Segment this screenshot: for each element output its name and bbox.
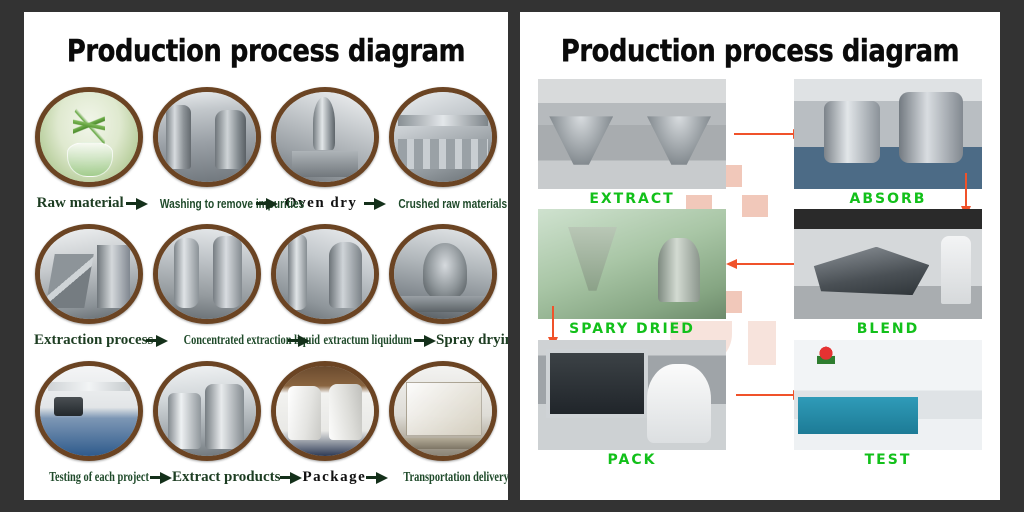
circle-package (271, 361, 379, 461)
washing-tanks-photo-icon (158, 92, 256, 182)
left-panel: Production process diagram (24, 12, 508, 500)
arrow-right-icon (126, 197, 148, 211)
caption-washing-to-remove-impurities: Washing to remove impurities (160, 197, 244, 210)
process-row-1-images (30, 83, 502, 187)
right-photo-grid: EXTRACT ABSORB SPARY DRIED BLEND (520, 69, 1000, 468)
quality-test-laboratory-photo-icon (794, 340, 982, 450)
circle-oven-dry (271, 87, 379, 187)
circle-transportation (389, 361, 497, 461)
circle-extraction-process (35, 224, 143, 324)
evaporator-photo-icon (276, 229, 374, 319)
process-row-3-images (30, 357, 502, 461)
arrow-right-icon (364, 197, 386, 211)
spray-dryer-photo-icon (394, 229, 492, 319)
arrow-down-icon (965, 173, 967, 207)
photo-cell-extract: EXTRACT (538, 79, 726, 207)
arrow-right-icon (366, 471, 388, 485)
circle-raw-material (35, 87, 143, 187)
caption-spray-drying: Spray drying (436, 333, 508, 348)
concentration-tanks-photo-icon (158, 229, 256, 319)
right-panel: Production process diagram EXTRACT ABSOR… (520, 12, 1000, 500)
left-circle-grid: Raw material Washing to remove impuritie… (24, 69, 508, 491)
panel-divider (508, 0, 520, 512)
photo-caption-absorb: ABSORB (794, 189, 982, 207)
caption-package: Package (302, 470, 366, 485)
caption-raw-material: Raw material (34, 196, 126, 211)
caption-extract-products: Extract products (172, 470, 280, 485)
arrow-right-icon (736, 394, 794, 396)
circle-extractum-liquidum (271, 224, 379, 324)
palletized-shipment-photo-icon (394, 366, 492, 456)
packing-operator-photo-icon (538, 340, 726, 450)
arrow-right-icon (414, 334, 436, 348)
caption-extraction-process: Extraction process (34, 333, 146, 348)
crushing-racks-photo-icon (394, 92, 492, 182)
right-panel-title: Production process diagram (554, 12, 967, 69)
circle-concentrated-liquid (153, 224, 261, 324)
process-row-3-captions: Testing of each project Extract products… (30, 461, 502, 491)
photo-row-spary-dried-blend: SPARY DRIED BLEND (538, 209, 982, 337)
caption-transportation-delivery: Transportation delivery (404, 471, 491, 485)
circle-testing (35, 361, 143, 461)
circle-washing (153, 87, 261, 187)
arrow-right-icon (256, 197, 278, 211)
photo-row-extract-absorb: EXTRACT ABSORB (538, 79, 982, 207)
photo-caption-spary-dried: SPARY DRIED (538, 319, 726, 337)
product-cans-photo-icon (158, 366, 256, 456)
caption-concentrated-extraction-liquid: Concentrated extraction liquid (184, 334, 273, 348)
process-row-1: Raw material Washing to remove impuritie… (30, 83, 502, 217)
extraction-vessels-photo-icon (538, 79, 726, 189)
spray-drying-room-photo-icon (538, 209, 726, 319)
process-row-3: Testing of each project Extract products… (30, 357, 502, 491)
arrow-right-icon (288, 334, 310, 348)
screenshot-root: Production process diagram (0, 0, 1024, 512)
caption-extractum-liquidum: extractum liquidum (324, 334, 401, 348)
photo-caption-pack: PACK (538, 450, 726, 468)
photo-cell-absorb: ABSORB (794, 79, 982, 207)
photo-cell-blend: BLEND (794, 209, 982, 337)
process-row-2-images (30, 220, 502, 324)
circle-crushed (389, 87, 497, 187)
photo-cell-test: TEST (794, 340, 982, 468)
arrow-right-icon (280, 471, 302, 485)
caption-testing-of-each-project: Testing of each project (49, 471, 135, 485)
raw-material-plant-extract-photo-icon (40, 92, 138, 182)
process-row-2: Extraction process Concentrated extracti… (30, 220, 502, 354)
photo-row-pack-test: PACK TEST (538, 340, 982, 468)
packaging-bags-photo-icon (276, 366, 374, 456)
process-row-1-captions: Raw material Washing to remove impuritie… (30, 187, 502, 217)
extraction-plant-photo-icon (40, 229, 138, 319)
arrow-right-icon (734, 133, 794, 135)
arrow-down-icon (552, 306, 554, 338)
photo-caption-blend: BLEND (794, 319, 982, 337)
caption-crushed-raw-materials: Crushed raw materials (398, 197, 485, 210)
arrow-right-icon (146, 334, 168, 348)
arrow-right-icon (150, 471, 172, 485)
blending-machine-photo-icon (794, 209, 982, 319)
photo-cell-spary-dried: SPARY DRIED (538, 209, 726, 337)
circle-spray-drying (389, 224, 497, 324)
absorption-tanks-photo-icon (794, 79, 982, 189)
photo-caption-extract: EXTRACT (538, 189, 726, 207)
left-panel-title: Production process diagram (58, 12, 474, 69)
laboratory-bench-photo-icon (40, 366, 138, 456)
process-row-2-captions: Extraction process Concentrated extracti… (30, 324, 502, 354)
oven-drying-tower-photo-icon (276, 92, 374, 182)
circle-extract-products (153, 361, 261, 461)
photo-cell-pack: PACK (538, 340, 726, 468)
arrow-left-icon (736, 263, 794, 265)
photo-caption-test: TEST (794, 450, 982, 468)
